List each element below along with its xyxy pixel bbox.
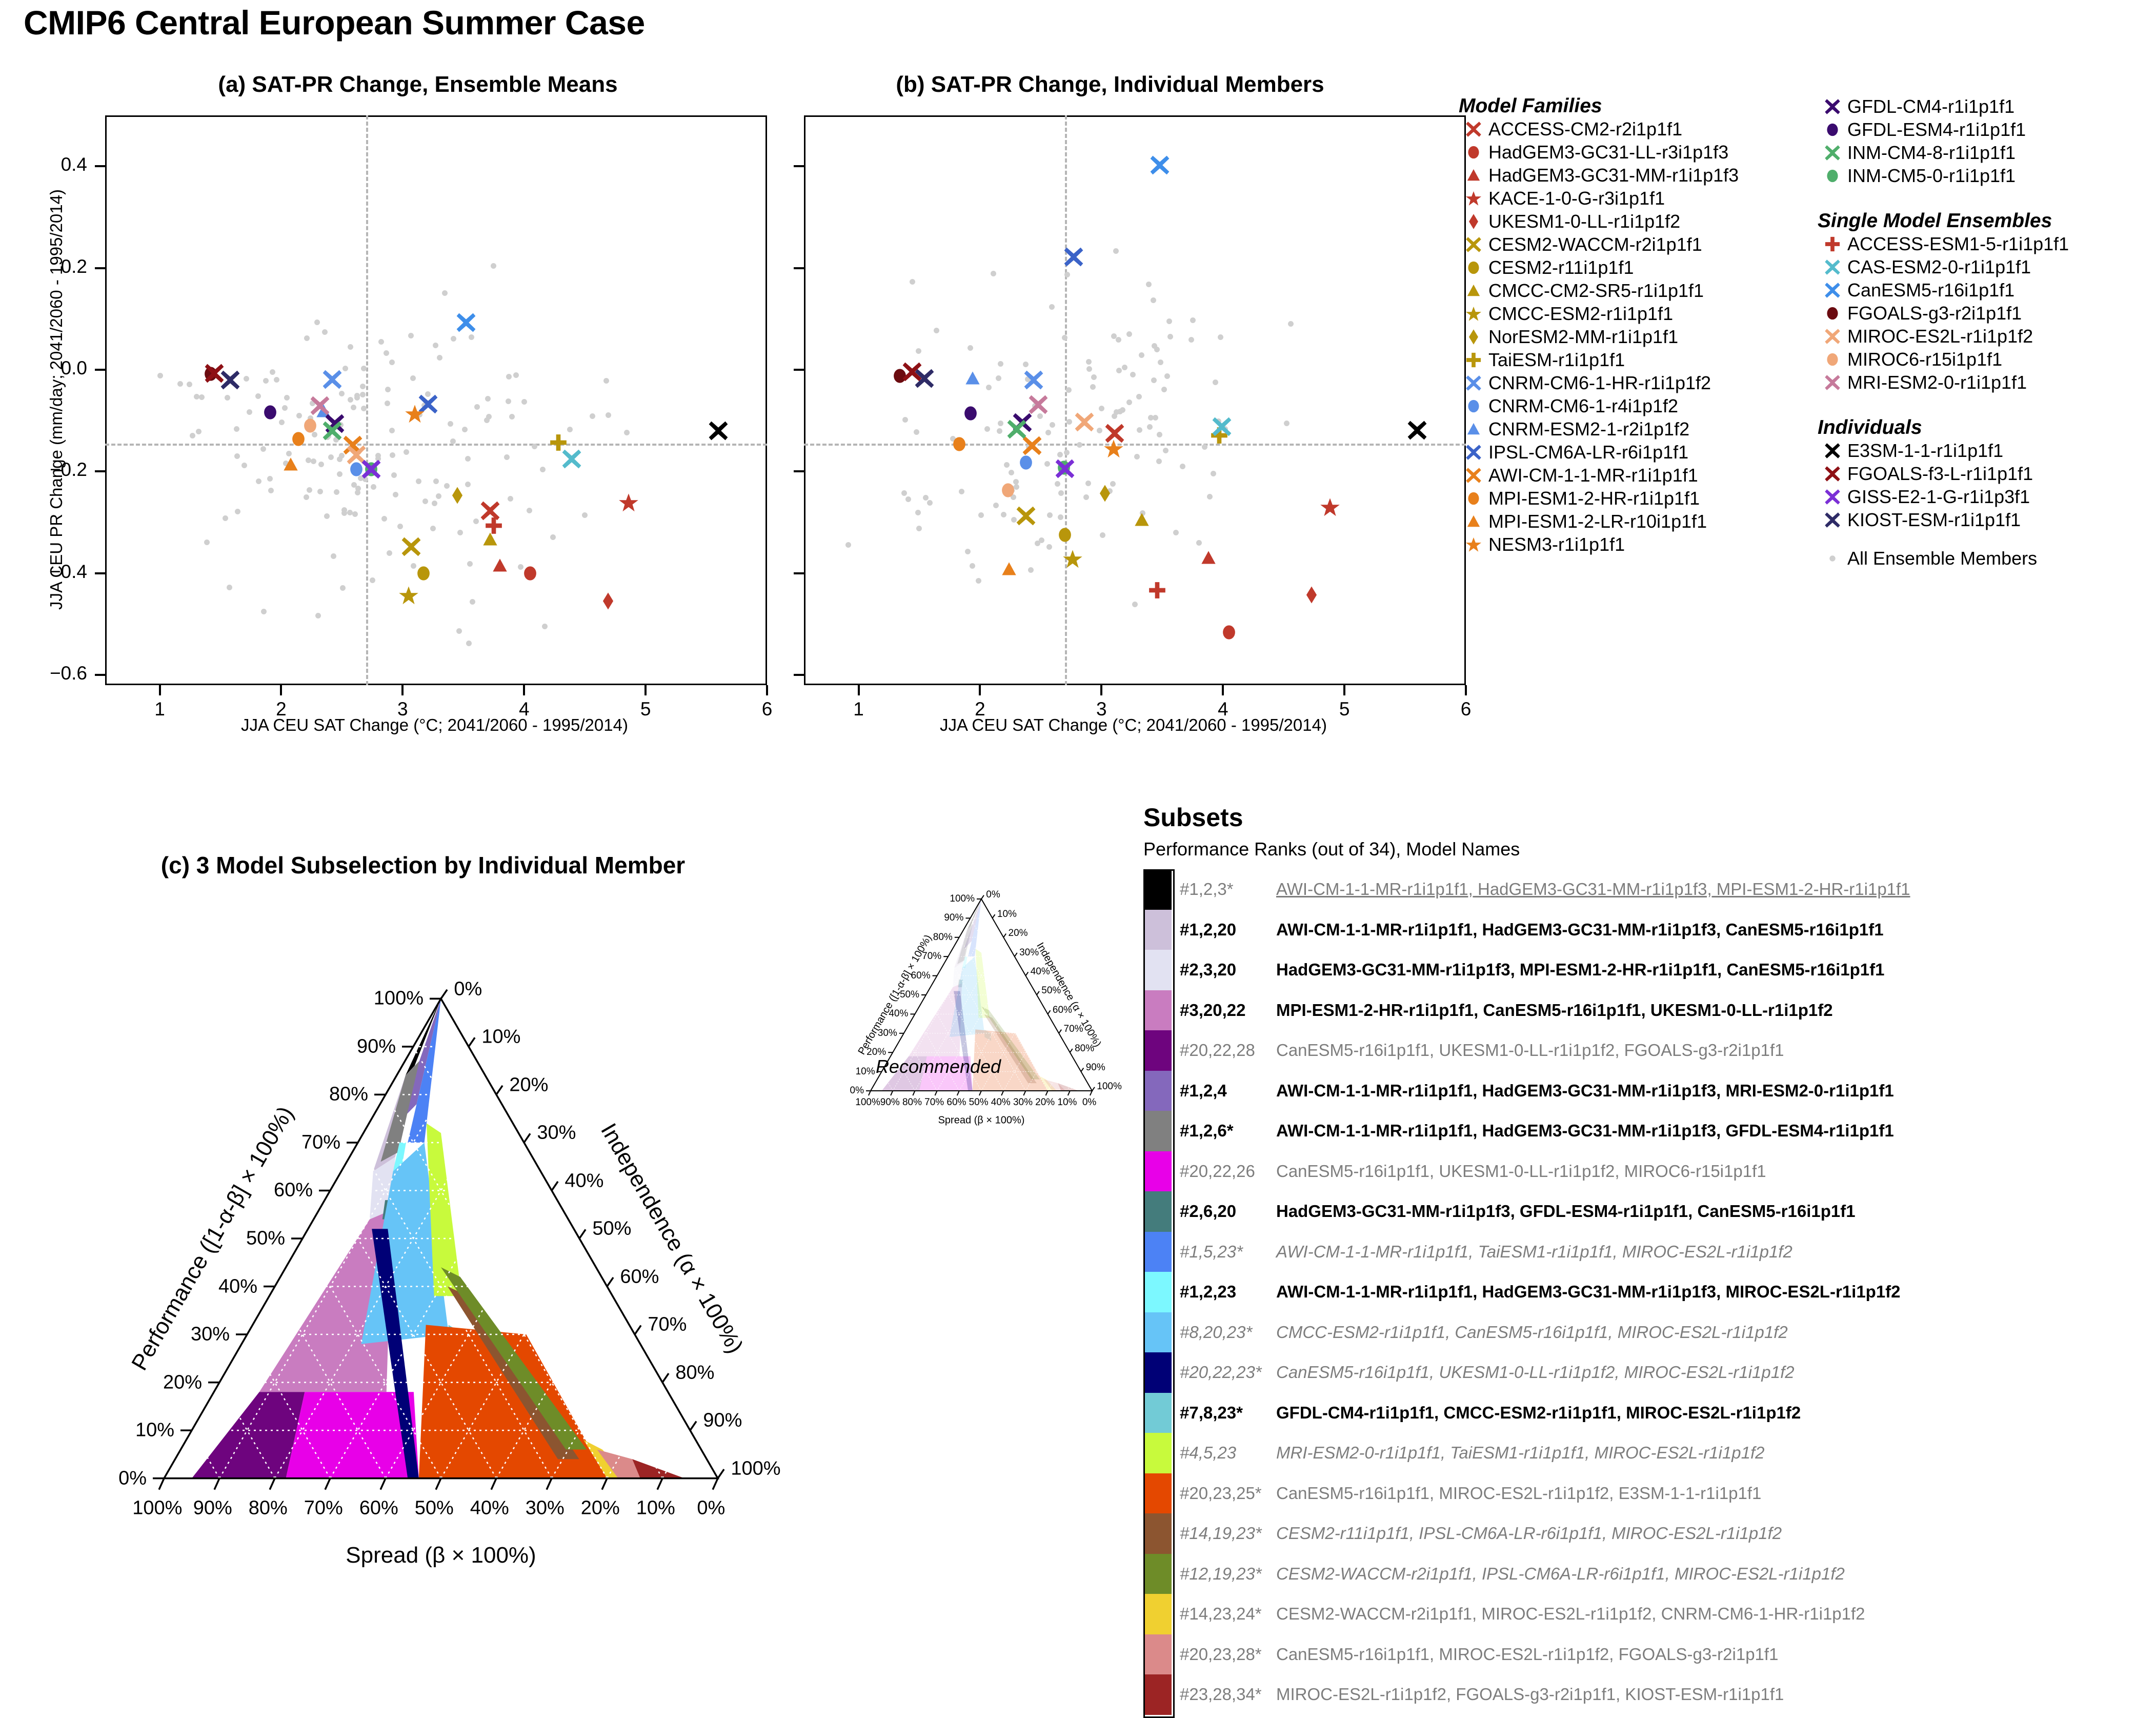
- subset-rank: #20,23,25*: [1172, 1484, 1276, 1503]
- legend-marker-circle: [1459, 490, 1488, 507]
- subset-color-swatch: [1143, 1352, 1172, 1393]
- legend-item[interactable]: TaiESM-r1i1p1f1: [1459, 348, 1818, 371]
- legend-item-label: FGOALS-f3-L-r1i1p1f1: [1847, 463, 2033, 485]
- ensemble-member-dot: [1207, 494, 1213, 500]
- subset-model-names: HadGEM3-GC31-MM-r1i1p1f3, GFDL-ESM4-r1i1…: [1276, 1202, 1856, 1221]
- subset-rank: #7,8,23*: [1172, 1403, 1276, 1423]
- legend-item[interactable]: NESM3-r1i1p1f1: [1459, 533, 1818, 556]
- subset-color-swatch: [1143, 1232, 1172, 1272]
- subset-row[interactable]: #14,19,23*CESM2-r11i1p1f1, IPSL-CM6A-LR-…: [1143, 1513, 2148, 1554]
- ensemble-member-dot: [1111, 333, 1117, 339]
- ensemble-member-dot: [1126, 399, 1132, 405]
- ensemble-member-dot: [282, 405, 288, 411]
- scatter-marker-circle: [999, 481, 1017, 500]
- legend-spacer: [1818, 531, 2151, 547]
- legend-item-label: TaiESM-r1i1p1f1: [1488, 349, 1625, 371]
- subset-rank: #1,2,6*: [1172, 1121, 1276, 1141]
- legend-marker-x: [1818, 443, 1847, 459]
- legend-item-label: CNRM-CM6-1-HR-r1i1p1f2: [1488, 372, 1711, 394]
- ensemble-member-dot: [256, 478, 261, 484]
- scatter-marker-x: [1150, 155, 1170, 175]
- ternary-gridline: [1070, 1072, 1081, 1091]
- subset-row[interactable]: #20,23,28*CanESM5-r16i1p1f1, MIROC-ES2L-…: [1143, 1634, 2148, 1675]
- ensemble-member-dot: [508, 496, 513, 502]
- ensemble-member-dot: [513, 372, 519, 378]
- subset-model-names: MRI-ESM2-0-r1i1p1f1, TaiESM1-r1i1p1f1, M…: [1276, 1443, 1764, 1463]
- scatter-marker-star: [398, 585, 419, 606]
- legend-marker-circle: [1459, 398, 1488, 414]
- subset-model-names: CanESM5-r16i1p1f1, UKESM1-0-LL-r1i1p1f2,…: [1276, 1363, 1795, 1382]
- ensemble-member-dot: [540, 467, 546, 472]
- ensemble-member-dot: [391, 472, 397, 478]
- ensemble-member-dot: [234, 453, 240, 459]
- legend-marker-circle: [1818, 305, 1847, 322]
- ensemble-member-dot: [1055, 481, 1060, 487]
- legend-item[interactable]: CNRM-CM6-1-r4i1p1f2: [1459, 394, 1818, 417]
- reference-line-vertical: [366, 115, 368, 685]
- ensemble-member-dot: [334, 489, 339, 495]
- ensemble-member-dot: [1284, 421, 1289, 426]
- ensemble-member-dot: [916, 348, 921, 354]
- legend-marker-x: [1818, 374, 1847, 391]
- scatter-marker-circle: [301, 416, 319, 435]
- x-tick-label: 3: [1081, 698, 1122, 720]
- x-tick: [1343, 685, 1345, 695]
- ensemble-member-dot: [1288, 321, 1294, 327]
- subset-rank: #2,6,20: [1172, 1202, 1276, 1221]
- ensemble-member-dot: [1064, 272, 1070, 277]
- ensemble-member-dot: [996, 375, 1001, 381]
- legend-item-label: CAS-ESM2-0-r1i1p1f1: [1847, 256, 2031, 278]
- x-tick-label: 1: [838, 698, 879, 720]
- ensemble-member-dot: [1130, 372, 1136, 377]
- legend-item[interactable]: FGOALS-f3-L-r1i1p1f1: [1818, 462, 2151, 485]
- ensemble-member-dot: [998, 361, 1003, 367]
- scatter-marker-star: [405, 404, 425, 424]
- ternary-tick-label: 80%: [249, 1497, 288, 1519]
- subset-model-names: CanESM5-r16i1p1f1, MIROC-ES2L-r1i1p1f2, …: [1276, 1484, 1761, 1503]
- ensemble-member-dot: [1086, 359, 1092, 365]
- scatter-marker-x: [1028, 394, 1049, 415]
- x-tick: [159, 685, 161, 695]
- ensemble-member-dot: [1164, 373, 1170, 379]
- subset-color-swatch: [1143, 1393, 1172, 1433]
- ensemble-member-dot: [457, 530, 463, 535]
- subset-row[interactable]: #1,2,3*AWI-CM-1-1-MR-r1i1p1f1, HadGEM3-G…: [1143, 869, 2148, 910]
- legend-item[interactable]: CanESM5-r16i1p1f1: [1818, 278, 2151, 302]
- legend-marker-star: [1459, 306, 1488, 322]
- legend-marker-diamond: [1459, 329, 1488, 345]
- legend-item[interactable]: CNRM-ESM2-1-r2i1p1f2: [1459, 417, 1818, 441]
- ternary-tick-label: 20%: [581, 1497, 620, 1519]
- ternary-tick-label: 40%: [218, 1275, 257, 1297]
- subset-model-names: CMCC-ESM2-r1i1p1f1, CanESM5-r16i1p1f1, M…: [1276, 1323, 1788, 1342]
- scatter-marker-x: [1074, 412, 1095, 432]
- ternary-region[interactable]: [419, 1325, 607, 1478]
- x-tick: [280, 685, 282, 695]
- legend-marker-x: [1818, 512, 1847, 528]
- ensemble-member-dot: [902, 417, 908, 423]
- legend-marker-circle: [1459, 259, 1488, 276]
- ensemble-member-dot: [284, 395, 290, 401]
- ensemble-member-dot: [1028, 567, 1034, 573]
- subset-model-names: CanESM5-r16i1p1f1, UKESM1-0-LL-r1i1p1f2,…: [1276, 1041, 1784, 1060]
- ensemble-member-dot: [532, 444, 537, 449]
- ensemble-member-dot: [527, 508, 532, 513]
- ensemble-member-dot: [234, 426, 239, 432]
- subset-row[interactable]: #2,6,20HadGEM3-GC31-MM-r1i1p1f3, GFDL-ES…: [1143, 1191, 2148, 1232]
- panel-c-title: (c) 3 Model Subselection by Individual M…: [77, 851, 769, 879]
- legend-item-label: MIROC6-r15i1p1f1: [1847, 349, 2002, 370]
- legend-item-label: GFDL-ESM4-r1i1p1f1: [1847, 119, 2026, 141]
- legend-item[interactable]: MRI-ESM2-0-r1i1p1f1: [1818, 371, 2151, 394]
- ensemble-member-dot: [993, 503, 999, 508]
- subset-rank: #4,5,23: [1172, 1443, 1276, 1463]
- legend-item-label: All Ensemble Members: [1847, 548, 2037, 569]
- scatter-marker-x: [1023, 370, 1044, 390]
- subset-row[interactable]: #20,23,25*CanESM5-r16i1p1f1, MIROC-ES2L-…: [1143, 1473, 2148, 1514]
- legend-item[interactable]: IPSL-CM6A-LR-r6i1p1f1: [1459, 441, 1818, 464]
- y-tick: [95, 369, 105, 371]
- legend-marker-x: [1818, 259, 1847, 275]
- ensemble-member-dot: [270, 369, 275, 375]
- subset-row[interactable]: #1,5,23*AWI-CM-1-1-MR-r1i1p1f1, TaiESM1-…: [1143, 1232, 2148, 1272]
- legend-column-left: Model FamiliesACCESS-CM2-r2i1p1f1HadGEM3…: [1459, 95, 1818, 556]
- subset-row[interactable]: #20,22,23*CanESM5-r16i1p1f1, UKESM1-0-LL…: [1143, 1352, 2148, 1393]
- legend-marker-x: [1818, 98, 1847, 115]
- ensemble-member-dot: [624, 430, 630, 435]
- ternary-tick-label: 80%: [933, 932, 953, 943]
- subset-row[interactable]: #14,23,24*CESM2-WACCM-r2i1p1f1, MIROC-ES…: [1143, 1594, 2148, 1634]
- ensemble-member-dot: [177, 381, 183, 387]
- ensemble-member-dot: [397, 524, 403, 529]
- scatter-marker-x: [322, 421, 342, 441]
- ensemble-member-dot: [339, 391, 345, 396]
- legend-item-label: CanESM5-r16i1p1f1: [1847, 279, 2014, 301]
- subset-row[interactable]: #23,28,34*MIROC-ES2L-r1i1p1f2, FGOALS-g3…: [1143, 1674, 2148, 1715]
- legend-item-label: UKESM1-0-LL-r1i1p1f2: [1488, 211, 1680, 232]
- legend-item[interactable]: GISS-E2-1-G-r1i1p3f1: [1818, 485, 2151, 508]
- x-tick-label: 3: [382, 698, 423, 720]
- x-tick-label: 6: [1445, 698, 1486, 720]
- subset-row[interactable]: #2,3,20HadGEM3-GC31-MM-r1i1p1f3, MPI-ESM…: [1143, 950, 2148, 990]
- legend-item[interactable]: CMCC-ESM2-r1i1p1f1: [1459, 302, 1818, 325]
- ensemble-member-dot: [204, 540, 210, 545]
- ensemble-member-dot: [1046, 544, 1052, 550]
- legend-item[interactable]: INM-CM5-0-r1i1p1f1: [1818, 164, 2151, 187]
- legend-marker-x: [1459, 236, 1488, 253]
- legend-marker-x: [1459, 444, 1488, 461]
- scatter-marker-star: [618, 492, 639, 513]
- ternary-region[interactable]: [1058, 1083, 1079, 1091]
- ternary-tick-label: 100%: [132, 1497, 182, 1519]
- ternary-tick-label: 10%: [1057, 1097, 1077, 1108]
- legend-item[interactable]: E3SM-1-1-r1i1p1f1: [1818, 439, 2151, 462]
- subset-rank: #1,2,4: [1172, 1081, 1276, 1101]
- x-tick-label: 4: [1202, 698, 1243, 720]
- ensemble-member-dot: [352, 511, 358, 517]
- legend-marker-x: [1818, 145, 1847, 161]
- ensemble-member-dot: [340, 585, 346, 591]
- ensemble-member-dot: [590, 413, 595, 419]
- ternary-region[interactable]: [632, 1459, 684, 1478]
- legend-marker-x: [1459, 467, 1488, 484]
- legend-item[interactable]: GFDL-ESM4-r1i1p1f1: [1818, 118, 2151, 141]
- ensemble-member-dot: [905, 496, 911, 502]
- ternary-tick-label: 10%: [636, 1497, 675, 1519]
- subset-row[interactable]: #20,22,26CanESM5-r16i1p1f1, UKESM1-0-LL-…: [1143, 1151, 2148, 1192]
- subset-row[interactable]: #12,19,23*CESM2-WACCM-r2i1p1f1, IPSL-CM6…: [1143, 1554, 2148, 1594]
- subset-row[interactable]: #3,20,22MPI-ESM1-2-HR-r1i1p1f1, CanESM5-…: [1143, 990, 2148, 1031]
- subset-model-names: CESM2-r11i1p1f1, IPSL-CM6A-LR-r6i1p1f1, …: [1276, 1524, 1782, 1543]
- ternary-tick-label: 100%: [950, 893, 975, 905]
- ensemble-member-dot: [978, 512, 984, 518]
- ternary-plot: 100%90%80%70%60%50%40%30%20%10%0%0%10%20…: [31, 897, 851, 1615]
- y-tick: [95, 470, 105, 472]
- legend-item[interactable]: KACE-1-0-G-r3i1p1f1: [1459, 187, 1818, 210]
- ensemble-member-dot: [1158, 359, 1163, 365]
- subset-rank: #1,2,3*: [1172, 880, 1276, 899]
- x-tick-label: 2: [260, 698, 301, 720]
- ensemble-member-dot: [1156, 458, 1162, 464]
- subset-row[interactable]: #20,22,28CanESM5-r16i1p1f1, UKESM1-0-LL-…: [1143, 1030, 2148, 1071]
- legend-marker-triangle: [1459, 513, 1488, 530]
- ensemble-member-dot: [1180, 464, 1185, 469]
- legend-item[interactable]: UKESM1-0-LL-r1i1p1f2: [1459, 210, 1818, 233]
- legend-item[interactable]: ACCESS-ESM1-5-r1i1p1f1: [1818, 232, 2151, 255]
- legend-item[interactable]: NorESM2-MM-r1i1p1f1: [1459, 325, 1818, 348]
- y-tick: [794, 165, 804, 167]
- subset-color-swatch: [1143, 1433, 1172, 1473]
- ternary-tick-label: 60%: [946, 1097, 966, 1108]
- legend-item[interactable]: CMCC-CM2-SR5-r1i1p1f1: [1459, 279, 1818, 302]
- ensemble-member-dot: [342, 366, 348, 371]
- scatter-marker-star: [1062, 549, 1083, 569]
- legend-item-label: E3SM-1-1-r1i1p1f1: [1847, 440, 2003, 462]
- subset-row[interactable]: #1,2,20AWI-CM-1-1-MR-r1i1p1f1, HadGEM3-G…: [1143, 910, 2148, 950]
- subset-rank: #3,20,22: [1172, 1001, 1276, 1020]
- legend-item[interactable]: AWI-CM-1-1-MR-r1i1p1f1: [1459, 464, 1818, 487]
- legend-item[interactable]: CESM2-r11i1p1f1: [1459, 256, 1818, 279]
- x-tick: [979, 685, 981, 695]
- legend-marker-circle: [1818, 122, 1847, 138]
- legend-item[interactable]: KIOST-ESM-r1i1p1f1: [1818, 508, 2151, 531]
- ensemble-member-dot: [1157, 432, 1162, 437]
- subset-rank: #14,23,24*: [1172, 1604, 1276, 1624]
- ensemble-member-dot: [1050, 422, 1055, 428]
- legend-item-label: MPI-ESM1-2-HR-r1i1p1f1: [1488, 488, 1700, 509]
- ensemble-member-dot: [1091, 374, 1097, 380]
- y-tick-label: −0.6: [10, 663, 87, 684]
- ensemble-member-dot: [1039, 537, 1044, 543]
- legend-heading: Individuals: [1818, 416, 2151, 439]
- ternary-axis-title-spread: Spread (β × 100%): [938, 1115, 1025, 1127]
- subset-color-swatch: [1143, 1554, 1172, 1594]
- ensemble-member-dot: [469, 334, 474, 340]
- ensemble-member-dot: [389, 428, 395, 433]
- legend-item[interactable]: CNRM-CM6-1-HR-r1i1p1f2: [1459, 371, 1818, 394]
- legend-item[interactable]: ACCESS-CM2-r2i1p1f1: [1459, 117, 1818, 141]
- subset-row[interactable]: #8,20,23*CMCC-ESM2-r1i1p1f1, CanESM5-r16…: [1143, 1312, 2148, 1353]
- ensemble-member-dot: [550, 534, 556, 540]
- ensemble-member-dot: [1047, 512, 1053, 518]
- scatter-marker-plus: [1148, 581, 1166, 600]
- ensemble-member-dot: [465, 456, 471, 462]
- legend-item[interactable]: MIROC6-r15i1p1f1: [1818, 348, 2151, 371]
- legend-item[interactable]: INM-CM4-8-r1i1p1f1: [1818, 141, 2151, 164]
- ensemble-member-dot: [328, 454, 334, 460]
- scatter-marker-x: [401, 536, 421, 557]
- ternary-tick-label: 10%: [997, 909, 1017, 920]
- subset-color-swatch: [1143, 1513, 1172, 1554]
- subset-row[interactable]: #1,2,4AWI-CM-1-1-MR-r1i1p1f1, HadGEM3-GC…: [1143, 1071, 2148, 1111]
- scatter-marker-circle: [414, 564, 433, 583]
- ensemble-member-dot: [385, 401, 390, 406]
- ternary-tick-label: 60%: [620, 1266, 659, 1288]
- ensemble-member-dot: [1151, 297, 1156, 303]
- legend-item[interactable]: MPI-ESM1-2-HR-r1i1p1f1: [1459, 487, 1818, 510]
- ensemble-member-dot: [1058, 514, 1063, 520]
- ensemble-member-dot: [542, 624, 548, 629]
- ensemble-member-dot: [509, 414, 515, 419]
- legend-item[interactable]: HadGEM3-GC31-LL-r3i1p1f3: [1459, 141, 1818, 164]
- legend-item[interactable]: GFDL-CM4-r1i1p1f1: [1818, 95, 2151, 118]
- ensemble-member-dot: [274, 377, 279, 383]
- ensemble-member-dot: [491, 263, 496, 269]
- legend-item-label: CNRM-ESM2-1-r2i1p1f2: [1488, 418, 1689, 440]
- ternary-tick-label: 90%: [357, 1035, 396, 1057]
- scatter-marker-x: [1016, 506, 1036, 526]
- subset-color-swatch: [1143, 1312, 1172, 1353]
- ensemble-member-dot: [484, 417, 490, 423]
- ternary-tick-label: 0%: [697, 1497, 725, 1519]
- panel-b-title: (b) SAT-PR Change, Individual Members: [769, 72, 1451, 97]
- ensemble-member-dot: [306, 457, 311, 463]
- ternary-tick-label: 100%: [1097, 1081, 1122, 1092]
- ensemble-member-dot: [187, 382, 192, 387]
- y-tick: [794, 674, 804, 676]
- subsets-subtitle: Performance Ranks (out of 34), Model Nam…: [1143, 838, 2148, 860]
- y-tick: [794, 267, 804, 269]
- ensemble-member-dot: [360, 384, 366, 389]
- legend-item[interactable]: All Ensemble Members: [1818, 547, 2151, 570]
- ternary-tick-label: 50%: [415, 1497, 454, 1519]
- ensemble-member-dot: [504, 454, 510, 460]
- ensemble-member-dot: [845, 542, 851, 548]
- ternary-tick-label: 30%: [537, 1122, 576, 1144]
- y-tick-label: 0.0: [10, 357, 87, 379]
- ternary-tick-label: 0%: [850, 1085, 864, 1096]
- legend-marker-plus: [1459, 352, 1488, 368]
- ensemble-member-dot: [1057, 452, 1063, 457]
- legend-item[interactable]: CESM2-WACCM-r2i1p1f1: [1459, 233, 1818, 256]
- ensemble-member-dot: [984, 426, 990, 432]
- scatter-marker-triangle: [963, 369, 982, 388]
- ensemble-member-dot: [473, 518, 479, 524]
- recommended-label: Recommended: [876, 1056, 1001, 1077]
- ternary-gridline: [662, 1430, 690, 1479]
- ensemble-member-dot: [433, 343, 438, 348]
- ensemble-member-dot: [485, 396, 491, 402]
- ensemble-member-dot: [998, 421, 1003, 426]
- legend-item-label: FGOALS-g3-r2i1p1f1: [1847, 303, 2022, 324]
- ensemble-member-dot: [1066, 387, 1072, 393]
- scatter-marker-x: [1006, 419, 1027, 440]
- ternary-tick-label: 20%: [1035, 1097, 1055, 1108]
- legend-marker-triangle: [1459, 167, 1488, 184]
- subset-model-names: AWI-CM-1-1-MR-r1i1p1f1, HadGEM3-GC31-MM-…: [1276, 1282, 1901, 1302]
- subset-model-names: AWI-CM-1-1-MR-r1i1p1f1, HadGEM3-GC31-MM-…: [1276, 920, 1884, 940]
- subset-row[interactable]: #7,8,23*GFDL-CM4-r1i1p1f1, CMCC-ESM2-r1i…: [1143, 1393, 2148, 1433]
- ternary-tick-label: 70%: [924, 1097, 944, 1108]
- ensemble-member-dot: [389, 359, 395, 365]
- ternary-tick-label: 100%: [855, 1097, 880, 1108]
- legend-item[interactable]: CAS-ESM2-0-r1i1p1f1: [1818, 255, 2151, 278]
- ensemble-member-dot: [385, 387, 391, 392]
- legend-marker-x: [1818, 466, 1847, 482]
- y-tick: [95, 674, 105, 676]
- subset-color-swatch: [1143, 910, 1172, 950]
- y-tick: [95, 165, 105, 167]
- ensemble-member-dot: [915, 510, 921, 515]
- legend-marker-circle: [1818, 168, 1847, 184]
- subset-color-swatch: [1143, 1674, 1172, 1715]
- legend-item-label: IPSL-CM6A-LR-r6i1p1f1: [1488, 442, 1688, 463]
- x-tick: [523, 685, 525, 695]
- ensemble-member-dot: [1009, 470, 1014, 475]
- subset-row[interactable]: #1,2,6*AWI-CM-1-1-MR-r1i1p1f1, HadGEM3-G…: [1143, 1111, 2148, 1151]
- legend-item-label: GFDL-CM4-r1i1p1f1: [1847, 96, 2014, 117]
- ensemble-member-dot: [1001, 512, 1006, 517]
- scatter-marker-star: [1320, 497, 1340, 517]
- legend-item[interactable]: MIROC-ES2L-r1i1p1f2: [1818, 325, 2151, 348]
- legend-marker-dot: [1818, 553, 1847, 564]
- subset-model-names: GFDL-CM4-r1i1p1f1, CMCC-ESM2-r1i1p1f1, M…: [1276, 1403, 1801, 1423]
- legend-marker-circle: [1459, 144, 1488, 161]
- ternary-tick-label: 20%: [1009, 928, 1028, 939]
- ensemble-member-dot: [341, 510, 347, 516]
- ternary-tick-label: 50%: [592, 1218, 631, 1240]
- subset-row[interactable]: #4,5,23MRI-ESM2-0-r1i1p1f1, TaiESM1-r1i1…: [1143, 1433, 2148, 1473]
- subset-model-names: AWI-CM-1-1-MR-r1i1p1f1, TaiESM1-r1i1p1f1…: [1276, 1242, 1792, 1262]
- subset-rank: #12,19,23*: [1172, 1564, 1276, 1584]
- ensemble-member-dot: [199, 394, 205, 400]
- legend-item[interactable]: FGOALS-g3-r2i1p1f1: [1818, 302, 2151, 325]
- legend-item-label: CESM2-r11i1p1f1: [1488, 257, 1634, 278]
- subset-rank: #20,22,28: [1172, 1041, 1276, 1060]
- ensemble-member-dot: [263, 378, 269, 384]
- legend-item[interactable]: MPI-ESM1-2-LR-r10i1p1f1: [1459, 510, 1818, 533]
- subset-row[interactable]: #1,2,23AWI-CM-1-1-MR-r1i1p1f1, HadGEM3-G…: [1143, 1272, 2148, 1312]
- scatter-marker-diamond: [448, 486, 467, 505]
- ensemble-member-dot: [470, 599, 475, 605]
- ensemble-member-dot: [196, 429, 202, 434]
- ternary-tick-label: 70%: [301, 1131, 340, 1153]
- subset-color-swatch: [1143, 1071, 1172, 1111]
- legend-marker-x: [1818, 282, 1847, 298]
- x-tick-label: 2: [959, 698, 1000, 720]
- ensemble-member-dot: [307, 487, 312, 493]
- subset-model-names: CanESM5-r16i1p1f1, MIROC-ES2L-r1i1p1f2, …: [1276, 1645, 1778, 1664]
- subset-rank: #2,3,20: [1172, 960, 1276, 980]
- ensemble-member-dot: [390, 452, 395, 458]
- ensemble-member-dot: [235, 509, 240, 514]
- subset-model-names: CESM2-WACCM-r2i1p1f1, MIROC-ES2L-r1i1p1f…: [1276, 1604, 1865, 1624]
- ensemble-member-dot: [1166, 318, 1172, 324]
- ensemble-member-dot: [606, 412, 611, 418]
- legend-item[interactable]: HadGEM3-GC31-MM-r1i1p1f3: [1459, 164, 1818, 187]
- subset-model-names: AWI-CM-1-1-MR-r1i1p1f1, HadGEM3-GC31-MM-…: [1276, 880, 1910, 899]
